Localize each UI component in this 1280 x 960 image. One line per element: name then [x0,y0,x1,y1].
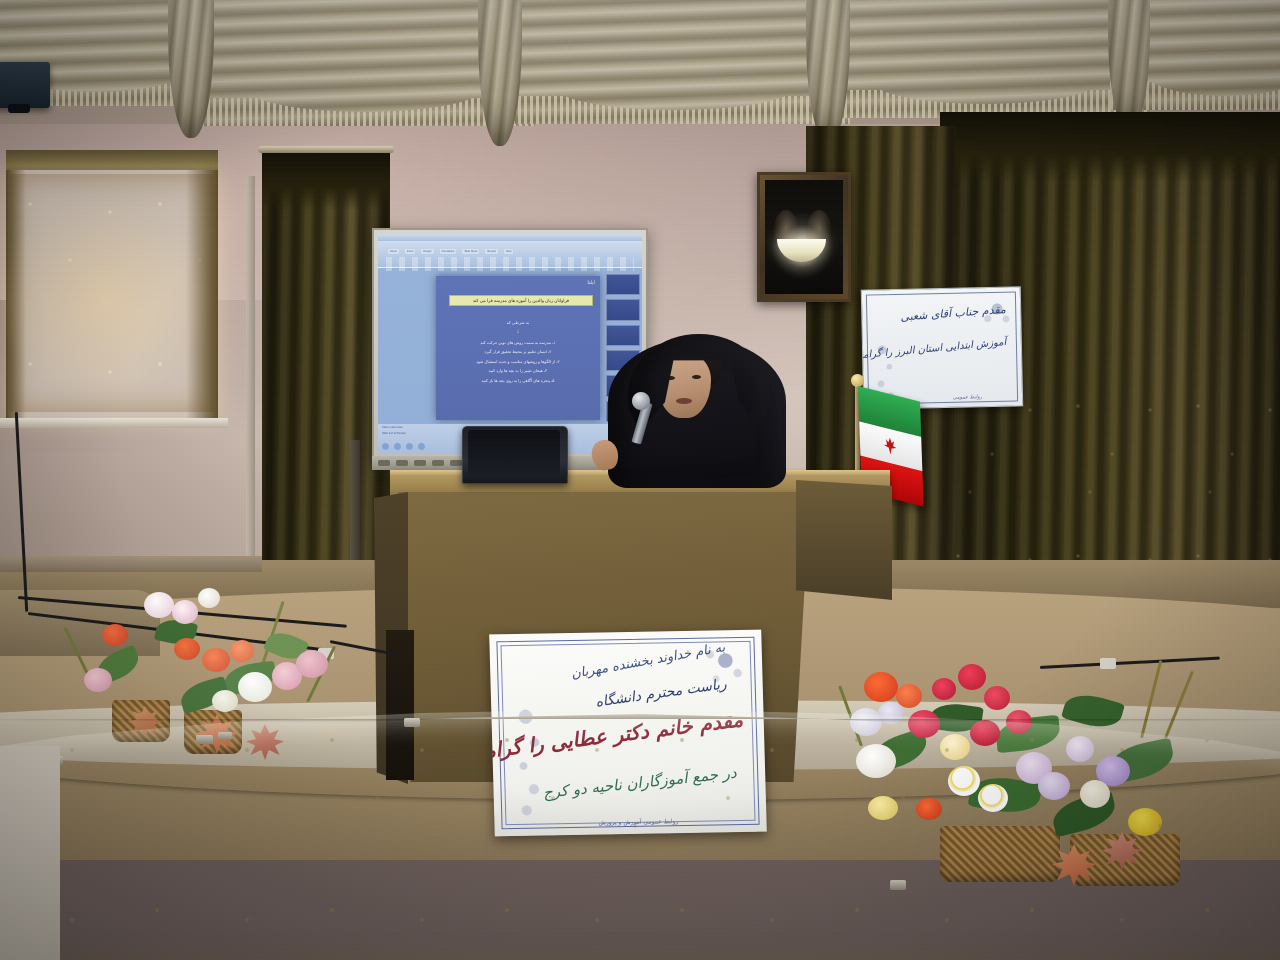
flower-blossom [958,664,986,690]
slide-bullet: ۳ـ از الگوها و روشهای مناسب و جدید استقب… [443,357,594,366]
flower-blossom [864,672,898,702]
skirt-clip [890,880,906,890]
flower-blossom [230,640,254,662]
window-sill [0,418,228,428]
whiteboard-pen-red[interactable] [414,460,426,466]
flower-blossom [174,638,200,660]
slide-corner-note: ایلنا [587,280,594,287]
slide-canvas[interactable]: ایلنا فراوانان زبان والدین را آموزه های … [436,276,600,420]
flower-blossom [984,686,1010,710]
whiteboard-eraser[interactable] [450,460,462,466]
slide-thumbnail[interactable] [606,299,640,320]
hall-floor [0,746,60,960]
slide-thumbnail[interactable] [606,274,640,295]
microphone-head [632,392,650,410]
flower-blossom [202,648,230,672]
portrait-glare-lamp [777,239,825,262]
slide-bullet: ۱ـ مدرسه به سمت روش های نوین حرکت کند [443,338,594,347]
ribbon-tab-view[interactable]: View [504,249,514,254]
flower-blossom [296,650,328,678]
flower-blossom [102,624,128,646]
skirt-clip [196,735,213,744]
view-slideshow-icon[interactable] [418,443,425,450]
conference-hall-photo: مقدم جناب آقای شعبی آموزش ابتدایی استان … [0,0,1280,960]
whiteboard-pen-black[interactable] [378,460,390,466]
powerpoint-titlebar [378,234,642,241]
slide-bullet: ۲ـ انسان تعلیم بر محیط تحقیق قرار گیرد [443,347,594,356]
valance-swag-4 [820,0,1150,118]
wall-sign-footer: روابط عمومی [953,394,982,401]
view-sorter-icon[interactable] [394,443,401,450]
stage-curtain-left [262,150,390,600]
statusbar-view-buttons[interactable] [382,443,425,450]
ribbon-tab-review[interactable]: Review [485,249,498,254]
flower-blossom [84,668,112,692]
ribbon-tab-home[interactable]: Home [388,249,399,254]
powerpoint-window[interactable]: Home Insert Design Animations Slide Show… [378,234,642,454]
flower-blossom [144,592,174,618]
whiteboard-surface[interactable]: Home Insert Design Animations Slide Show… [378,234,642,454]
curtain-rod-left [258,146,394,153]
portrait-image [765,180,843,294]
flower-stalk [1140,660,1162,738]
view-normal-icon[interactable] [382,443,389,450]
ceiling-projector-lens [8,104,30,113]
flower-blossom [932,678,956,700]
wall-conduit [246,176,255,596]
skirt-clip [218,732,232,740]
flower-blossom [172,600,198,624]
window-glow [0,160,240,440]
ribbon-tab-animations[interactable]: Animations [440,249,457,254]
notes-placeholder[interactable]: Click to add notes [382,426,403,430]
ribbon-tab-insert[interactable]: Insert [405,249,416,254]
slide-counter-status: Slide 3 of 12 Persian [382,432,406,436]
stage-curtain-left-top [262,150,390,210]
speaker-eye-right [692,375,701,379]
slide-arrow-glyph: ↓ [516,329,519,335]
slide-bullet: ۴ـ هیجان تغییر را به بچه ها وارد کنید [443,366,594,375]
guest-welcome-sign: مقدم جناب آقای شعبی آموزش ابتدایی استان … [861,286,1023,409]
ribbon-controls[interactable] [386,257,634,271]
ribbon-tab-slideshow[interactable]: Slide Show [462,249,479,254]
ribbon-tab-row[interactable]: Home Insert Design Animations Slide Show… [388,249,513,254]
flower-blossom [238,672,272,702]
slide-heading: فراوانان زبان والدین را آموزه های مدرسه … [449,295,592,306]
pleated-stage-skirt [0,706,1280,960]
flower-blossom [198,588,220,608]
framed-portrait [757,172,851,302]
stage-curtain-right-top [940,112,1280,182]
whiteboard-pen-green[interactable] [432,460,444,466]
whiteboard-pen-blue[interactable] [396,460,408,466]
valance-swag-3 [500,0,850,124]
slide-bullet: ۵ـ پنجره های آگاهی را به روی بچه ها باز … [443,376,594,385]
laptop-screen-bezel [468,430,560,476]
powerpoint-ribbon[interactable]: Home Insert Design Animations Slide Show… [378,241,642,268]
flower-stalk [1164,671,1194,739]
ribbon-tab-design[interactable]: Design [421,249,433,254]
stage-back-wallbase [0,556,262,572]
flower-blossom [212,690,238,712]
slide-subheading: به شرطی که [436,319,600,326]
slide-thumbnail[interactable] [606,325,640,346]
skirt-clip [404,718,420,727]
podium-body-right [796,480,892,600]
slide-bullet-list: ۱ـ مدرسه به سمت روش های نوین حرکت کند ۲ـ… [443,338,594,385]
view-reading-icon[interactable] [406,443,413,450]
ceiling-projector [0,62,50,108]
speaker-mouth [676,398,692,404]
